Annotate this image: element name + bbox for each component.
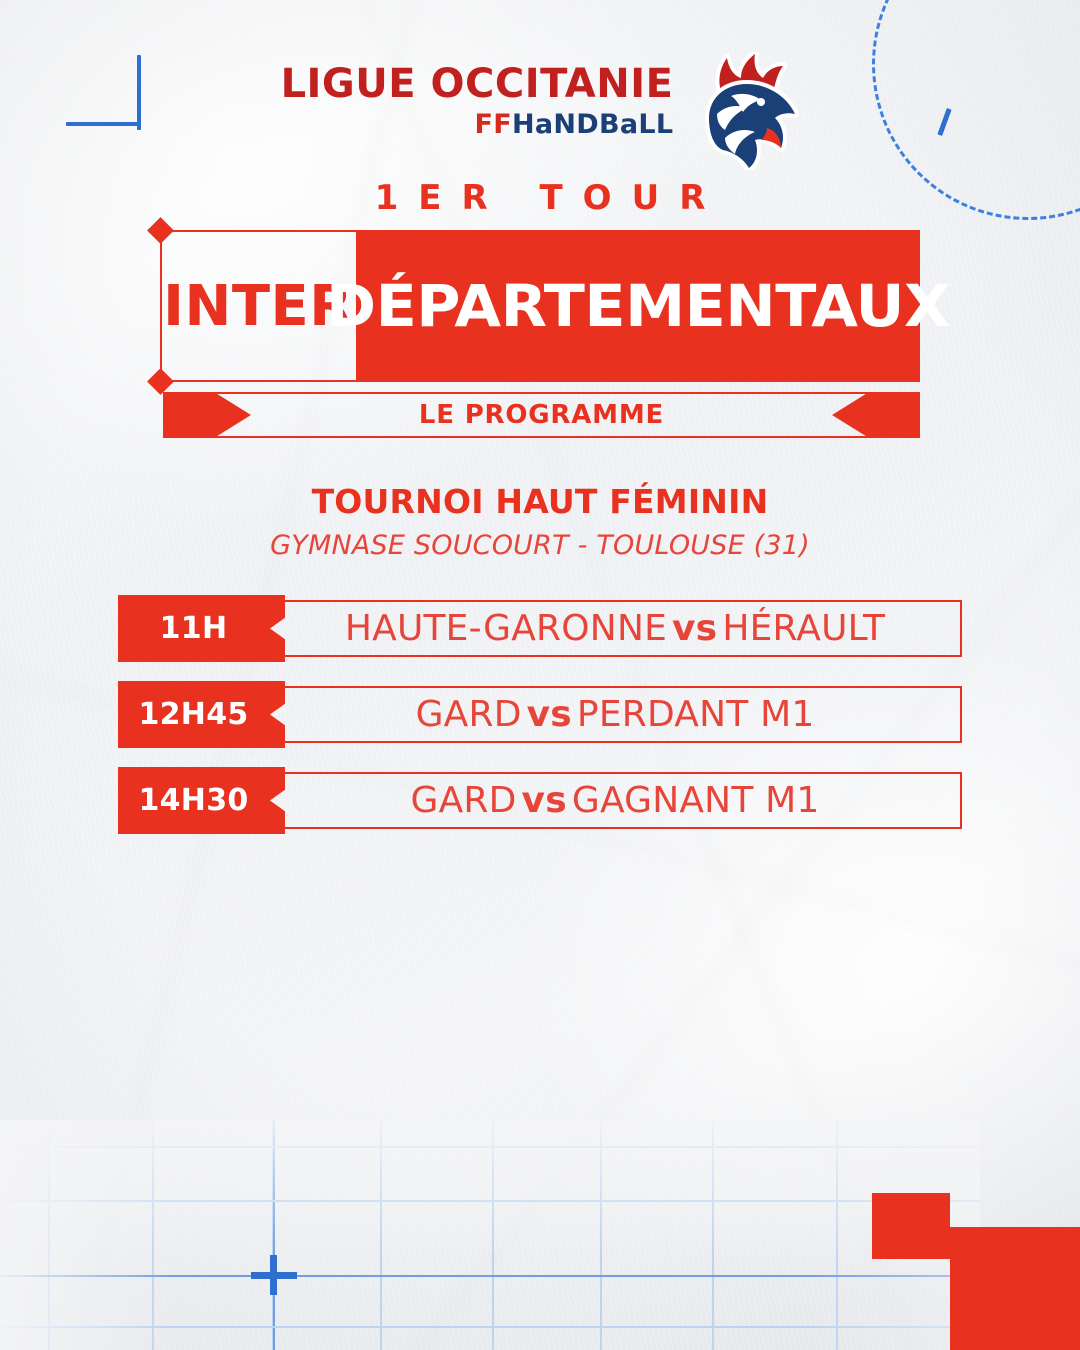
ribbon-label: LE PROGRAMME xyxy=(163,392,920,438)
brand-handball-text: HaNDBaLL xyxy=(512,109,673,140)
brand-ff-text: FF xyxy=(474,109,512,140)
match-teams: HAUTE-GARONNE vs HÉRAULT xyxy=(268,600,962,657)
match-teams: GARD vs GAGNANT M1 xyxy=(268,772,962,829)
match-row: 12H45 GARD vs PERDANT M1 xyxy=(118,686,962,743)
match-row: 11H HAUTE-GARONNE vs HÉRAULT xyxy=(118,600,962,657)
match-teams: GARD vs PERDANT M1 xyxy=(268,686,962,743)
team-b: HÉRAULT xyxy=(722,608,885,649)
match-time: 14H30 xyxy=(138,783,264,818)
vs-label: vs xyxy=(667,608,722,649)
match-time-chip: 11H xyxy=(118,595,285,662)
brand-federation-name: FFHaNDBaLL xyxy=(281,111,674,138)
vs-label: vs xyxy=(522,694,577,735)
match-time: 11H xyxy=(160,611,244,646)
team-b: PERDANT M1 xyxy=(577,694,815,735)
tournament-title: TOURNOI HAUT FÉMININ xyxy=(0,482,1080,521)
programme-ribbon: LE PROGRAMME xyxy=(163,392,920,438)
match-time-chip: 14H30 xyxy=(118,767,285,834)
deco-red-block-small xyxy=(872,1193,950,1259)
main-banner: INTER DÉPARTEMENTAUX xyxy=(160,230,920,382)
team-a: GARD xyxy=(416,694,522,735)
brand-header: LIGUE OCCITANIE FFHaNDBaLL xyxy=(0,52,1080,170)
vs-label: vs xyxy=(517,780,572,821)
deco-red-block-large xyxy=(950,1227,1080,1350)
team-a: GARD xyxy=(410,780,516,821)
deco-grid-fade xyxy=(0,1120,980,1350)
match-time-chip: 12H45 xyxy=(118,681,285,748)
brand-wordmark: LIGUE OCCITANIE FFHaNDBaLL xyxy=(281,52,674,138)
brand-league-name: LIGUE OCCITANIE xyxy=(281,64,674,104)
team-b: GAGNANT M1 xyxy=(572,780,820,821)
match-schedule: 11H HAUTE-GARONNE vs HÉRAULT 12H45 GARD … xyxy=(118,600,962,858)
match-row: 14H30 GARD vs GAGNANT M1 xyxy=(118,772,962,829)
ffhandball-rooster-logo xyxy=(691,52,799,170)
team-a: HAUTE-GARONNE xyxy=(345,608,667,649)
banner-word-departementaux: DÉPARTEMENTAUX xyxy=(345,230,932,382)
tournament-info: TOURNOI HAUT FÉMININ GYMNASE SOUCOURT - … xyxy=(0,482,1080,561)
tournament-venue: GYMNASE SOUCOURT - TOULOUSE (31) xyxy=(0,530,1080,561)
round-label: 1ER TOUR xyxy=(0,178,1080,218)
match-time: 12H45 xyxy=(138,697,264,732)
